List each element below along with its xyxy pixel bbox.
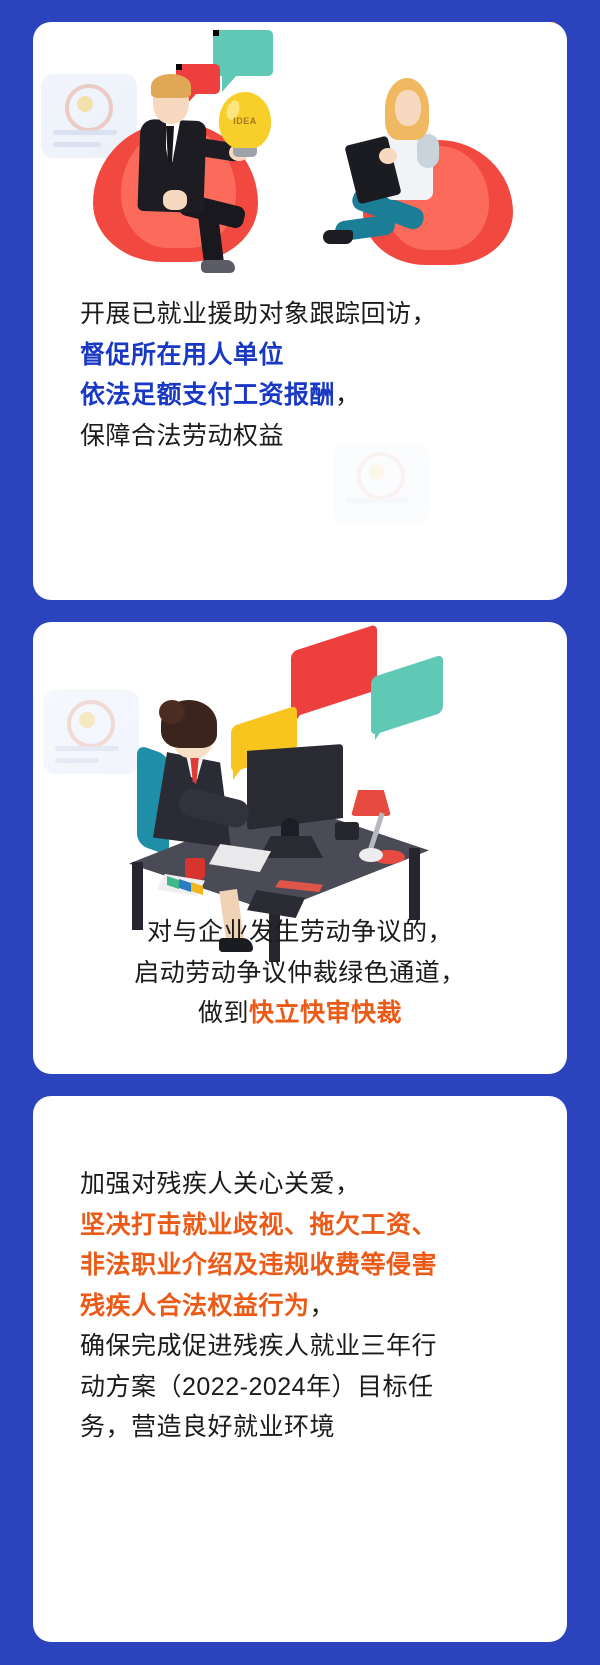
text-line: 启动劳动争议仲裁绿色通道， [33, 953, 567, 994]
text-line: 加强对残疾人关心关爱， [80, 1164, 537, 1205]
poster-page: 开展权益维护活动 权益维护 [0, 0, 600, 1665]
woman-foot [323, 230, 353, 244]
lightbulb-label: IDEA [219, 116, 271, 126]
speech-bubble-teal-tail-icon [375, 714, 393, 740]
text-seg: 加强对残疾人关心关爱， [80, 1170, 361, 1198]
text-seg-blue: 依法足额支付工资报酬 [80, 381, 335, 409]
speech-bubble-red-tail-icon [295, 694, 315, 722]
phone-stand [335, 822, 359, 840]
card-labor-dispute: 对与企业发生劳动争议的， 启动劳动争议仲裁绿色通道， 做到快立快审快裁 [33, 622, 567, 1074]
woman-at-desk-computer-illustration [33, 622, 567, 922]
text-line: 做到快立快审快裁 [33, 993, 567, 1034]
lightbulb-icon: IDEA [219, 92, 271, 150]
woman-face [395, 90, 421, 126]
lightbulb-base-icon [233, 148, 257, 157]
card-employment-followup: IDEA [33, 22, 567, 600]
coffee-mug [185, 858, 205, 880]
text-seg: 务，营造良好就业环境 [80, 1413, 335, 1441]
text-seg: 确保完成促进残疾人就业三年行 [80, 1332, 437, 1360]
text-line: 确保完成促进残疾人就业三年行 [80, 1326, 537, 1367]
text-line: 督促所在用人单位 [80, 335, 537, 376]
text-line: 对与企业发生劳动争议的， [33, 912, 567, 953]
man-hair [151, 74, 191, 98]
text-seg: ， [310, 1292, 336, 1320]
text-line: 坚决打击就业歧视、拖欠工资、 [80, 1205, 537, 1246]
text-line: 非法职业介绍及违规收费等侵害 [80, 1245, 537, 1286]
speech-bubble-teal-tail-icon [222, 75, 237, 92]
text-line: 务，营造良好就业环境 [80, 1407, 537, 1448]
card1-text: 开展已就业援助对象跟踪回访， 督促所在用人单位 依法足额支付工资报酬， 保障合法… [80, 294, 537, 456]
text-seg: 对与企业发生劳动争议的， [147, 918, 453, 946]
woman-sleeve [417, 134, 439, 168]
text-seg: 动方案（2022-2024年）目标任 [80, 1373, 434, 1401]
text-line: 动方案（2022-2024年）目标任 [80, 1367, 537, 1408]
text-seg: ， [335, 381, 361, 409]
lamp-shade [351, 790, 391, 816]
two-people-beanbags-illustration: IDEA [33, 22, 567, 272]
watermark-emblem-icon [43, 690, 139, 774]
man-hand-resting [163, 190, 187, 210]
text-seg-blue: 督促所在用人单位 [80, 341, 284, 369]
text-seg: 开展已就业援助对象跟踪回访， [80, 300, 437, 328]
text-seg-orange: 快立快审快裁 [249, 999, 402, 1027]
speech-bubble-yellow-tail-icon [233, 758, 249, 780]
monitor-screen [247, 744, 343, 830]
text-seg: 保障合法劳动权益 [80, 422, 284, 450]
watermark-emblem-faint-icon [333, 442, 429, 526]
text-seg-orange: 非法职业介绍及违规收费等侵害 [80, 1251, 437, 1279]
mouse [359, 848, 383, 862]
card-disability-rights: 加强对残疾人关心关爱， 坚决打击就业歧视、拖欠工资、 非法职业介绍及违规收费等侵… [33, 1096, 567, 1642]
text-seg: 启动劳动争议仲裁绿色通道， [134, 959, 466, 987]
text-seg-orange: 坚决打击就业歧视、拖欠工资、 [80, 1211, 437, 1239]
text-line: 依法足额支付工资报酬， [80, 375, 537, 416]
speech-bubble-teal-icon [213, 30, 273, 76]
desk-leg-right [409, 848, 420, 920]
text-line: 开展已就业援助对象跟踪回访， [80, 294, 537, 335]
woman-hand [379, 148, 397, 164]
card3-text: 加强对残疾人关心关爱， 坚决打击就业歧视、拖欠工资、 非法职业介绍及违规收费等侵… [80, 1164, 537, 1448]
man-lapel [146, 120, 166, 170]
text-seg: 做到 [198, 999, 249, 1027]
card2-text: 对与企业发生劳动争议的， 启动劳动争议仲裁绿色通道， 做到快立快审快裁 [33, 912, 567, 1034]
woman-hair-bun [159, 700, 185, 724]
text-seg-orange: 残疾人合法权益行为 [80, 1292, 310, 1320]
man-shoe [201, 260, 235, 273]
text-line: 保障合法劳动权益 [80, 416, 537, 457]
text-line: 残疾人合法权益行为， [80, 1286, 537, 1327]
